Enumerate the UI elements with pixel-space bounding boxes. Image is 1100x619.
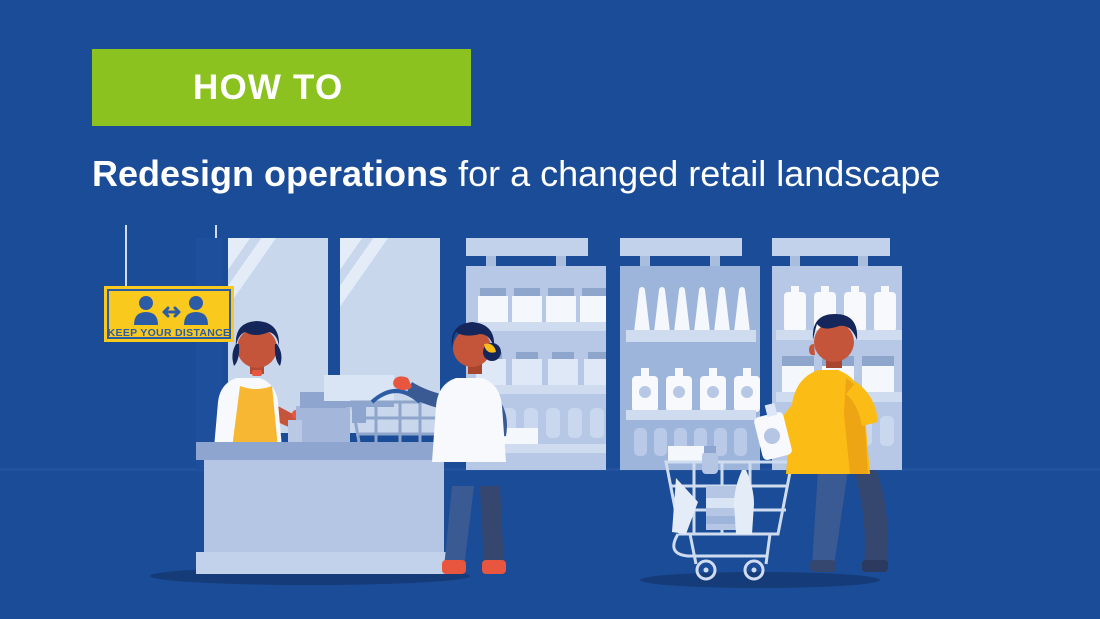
- shelf-row-1: [466, 288, 608, 331]
- shopper-shoe-right: [862, 560, 888, 572]
- cashier-collar: [252, 370, 262, 376]
- shopper-shoe-left: [810, 560, 836, 572]
- cashier-apron: [232, 386, 278, 448]
- checkout-counter: [196, 442, 452, 574]
- shelving-unit-2: [620, 238, 760, 470]
- distancing-sign: KEEP YOUR DISTANCE: [104, 286, 234, 342]
- shopper-head: [814, 322, 854, 362]
- customer-shoe-left: [442, 560, 466, 574]
- poster-canvas: KEEP YOUR DISTANCE HOW TO Redesign opera…: [0, 0, 1100, 619]
- customer-shoe-right: [482, 560, 506, 574]
- sign-wire-left: [125, 225, 127, 291]
- illustration-artboard: KEEP YOUR DISTANCE: [0, 0, 1100, 619]
- cart-ground-shadow: [640, 572, 880, 588]
- floor: [0, 470, 1100, 619]
- register-screen: [324, 375, 394, 401]
- customer-leg-right: [480, 486, 504, 568]
- distancing-sign-label: KEEP YOUR DISTANCE: [108, 327, 231, 339]
- customer-shirt: [432, 378, 506, 462]
